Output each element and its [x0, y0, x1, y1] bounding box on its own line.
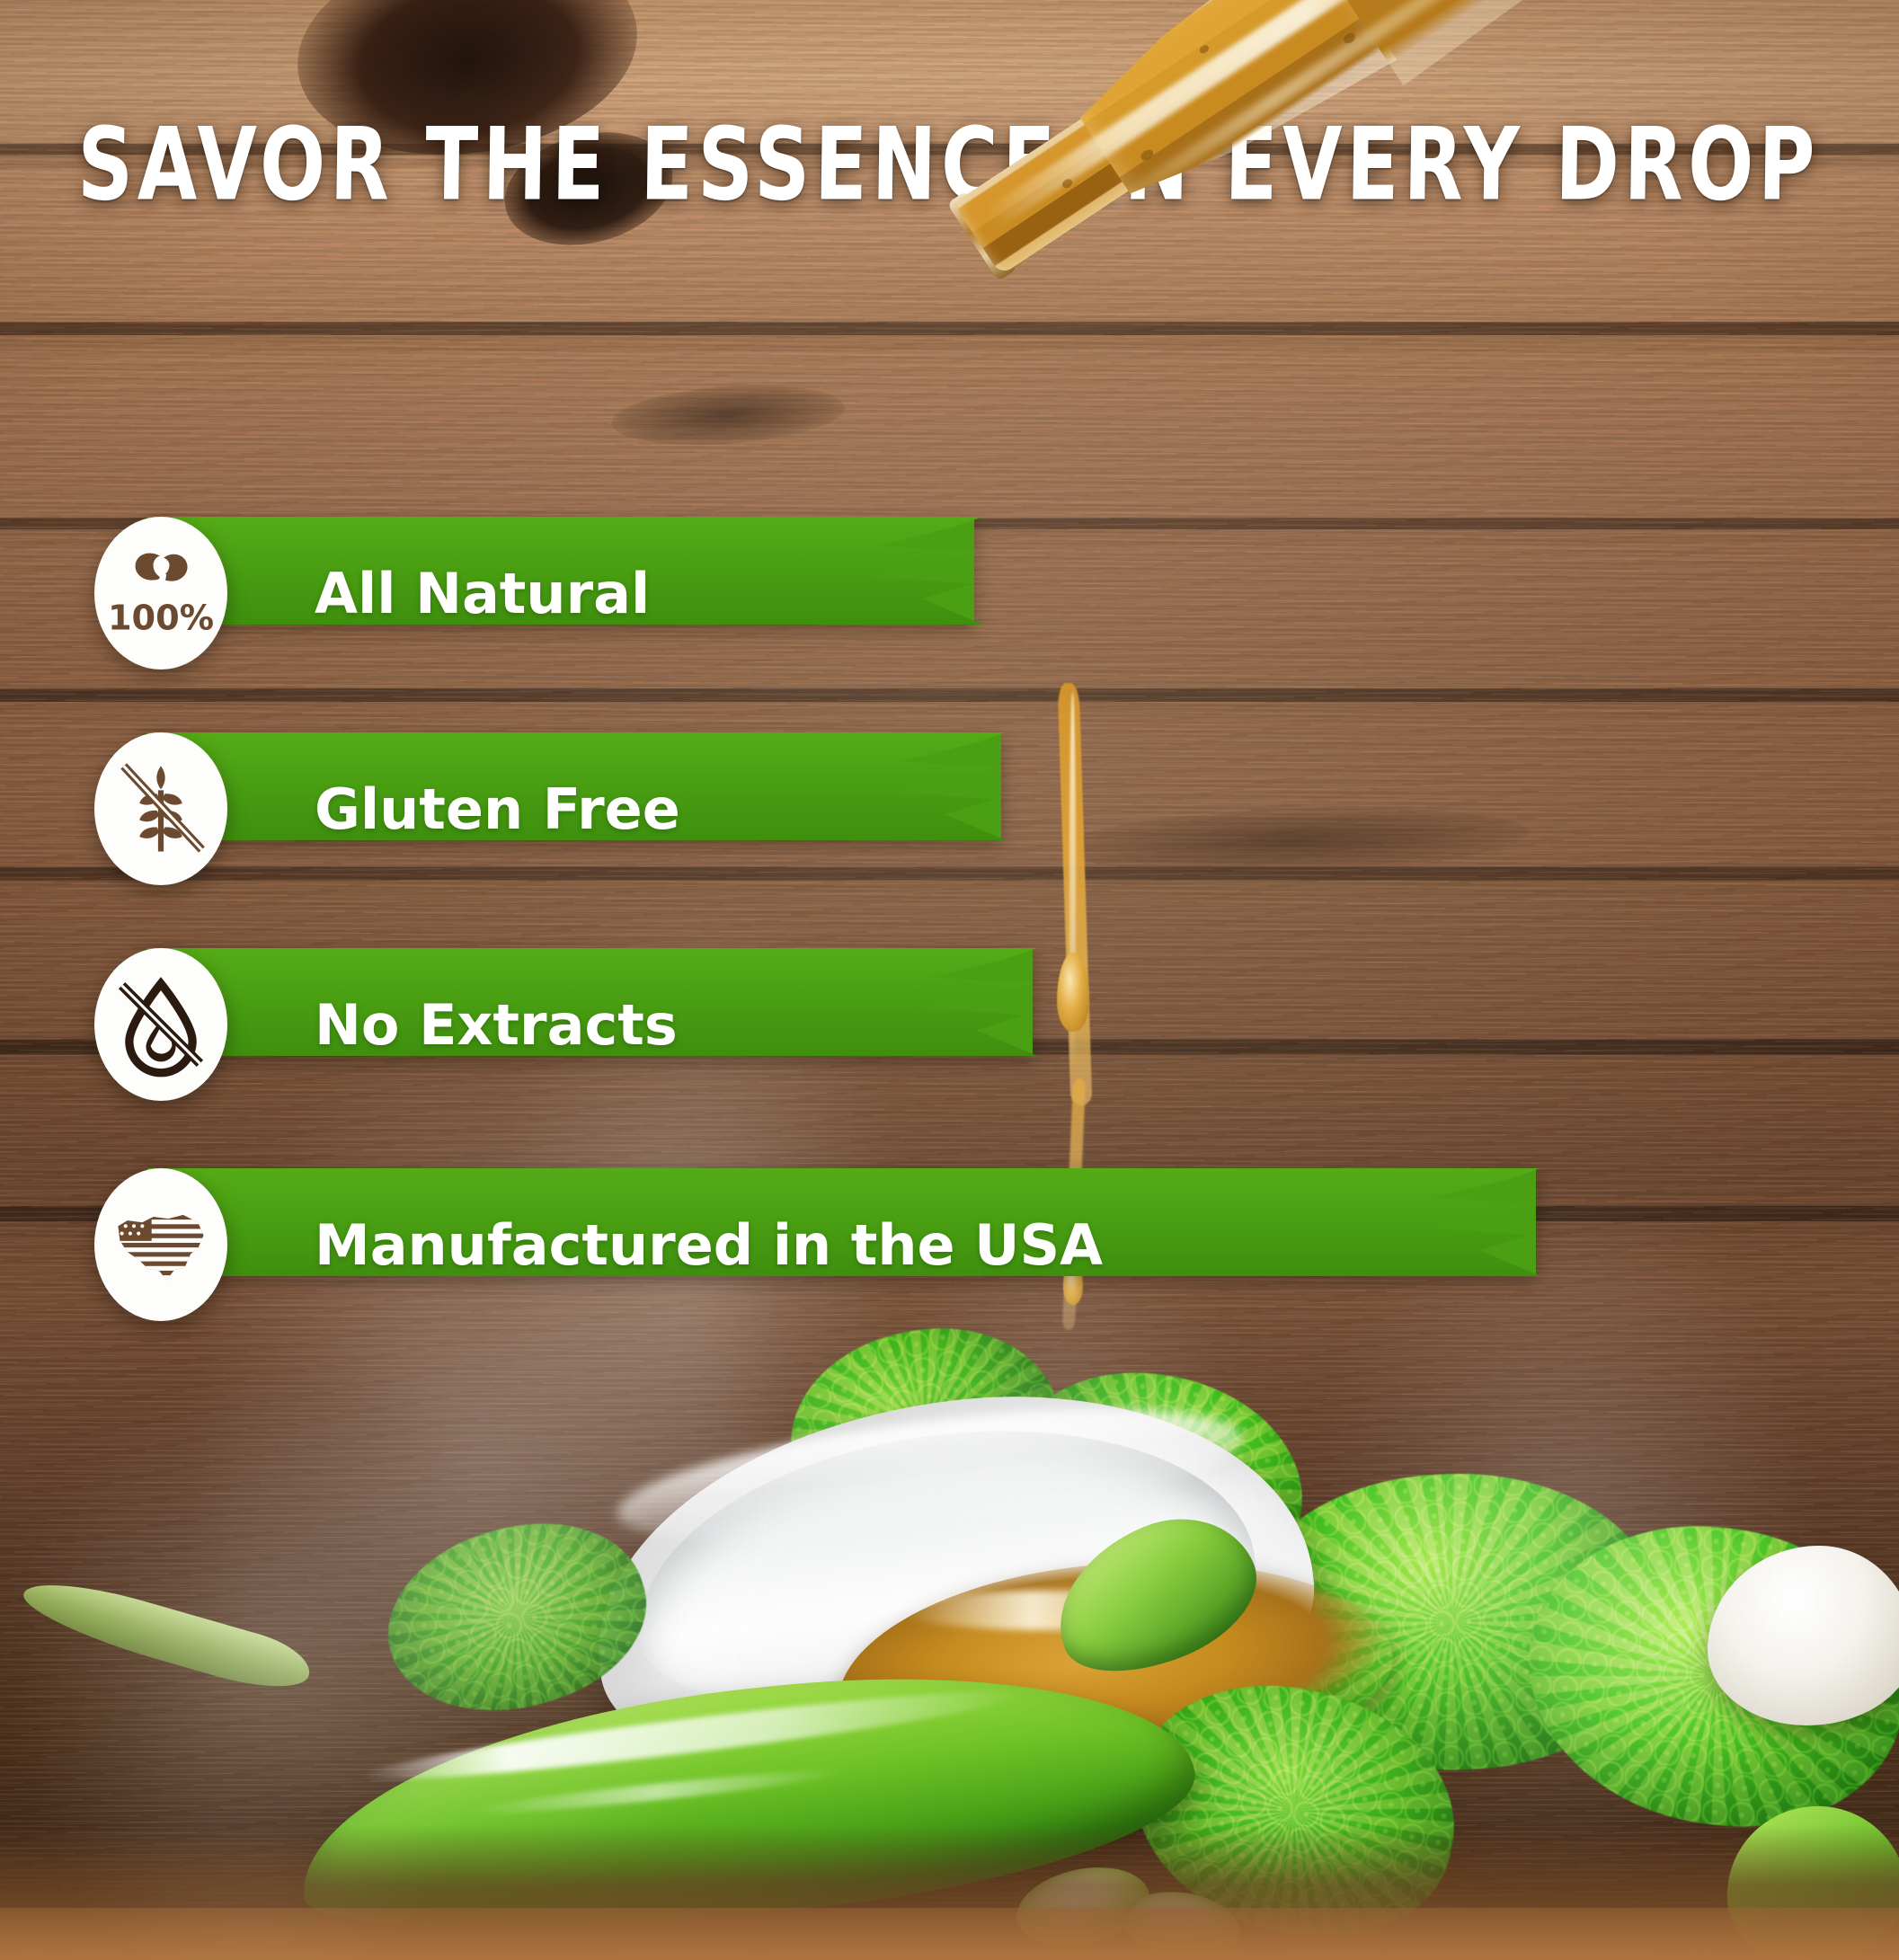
feature-badge-label: All Natural [315, 517, 650, 670]
promo-graphic-canvas: SAVOR THE ESSENCE IN EVERY DROP [0, 0, 1899, 1960]
droplet-crossed-out-icon [94, 948, 227, 1101]
usa-map-flag-icon [94, 1168, 227, 1321]
feature-badge-label: Manufactured in the USA [315, 1168, 1103, 1321]
hundred-percent-natural-icon: 100% [94, 517, 227, 670]
feature-badge-list: All Natural 100% Gl [0, 0, 1899, 1960]
feature-badge-label: No Extracts [315, 948, 678, 1101]
feature-badge-label: Gluten Free [315, 732, 680, 885]
wheat-crossed-out-icon [94, 732, 227, 885]
svg-text:100%: 100% [108, 599, 214, 638]
